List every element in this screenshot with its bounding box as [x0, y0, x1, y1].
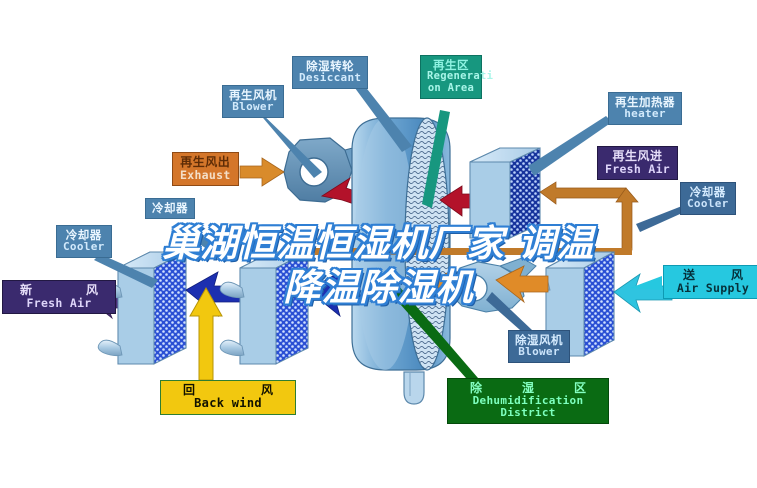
label-regen-heater-en: heater [615, 108, 675, 120]
label-back-wind[interactable]: 回 风 Back wind [160, 380, 296, 415]
label-dehum-blower[interactable]: 除湿风机 Blower [508, 330, 570, 363]
label-regeneration-area[interactable]: 再生区 Regenerati on Area [420, 55, 482, 99]
label-regen-blower[interactable]: 再生风机 Blower [222, 85, 284, 118]
label-cooler-right[interactable]: 冷却器 Cooler [680, 182, 736, 215]
label-cooler-left-en: Cooler [63, 241, 105, 253]
label-regen-fresh-air-en: Fresh Air [605, 163, 670, 175]
label-fresh-air-supply-cn: 新 风 [10, 284, 108, 297]
label-fresh-air-supply[interactable]: 新 风 Fresh Air [2, 280, 116, 314]
label-regeneration-area-en-2: on Area [427, 83, 475, 94]
label-back-wind-cn: 回 风 [169, 384, 287, 397]
label-dehumidification-district-cn: 除 湿 区 [456, 382, 600, 395]
label-air-supply-en: Air Supply [671, 282, 755, 294]
label-cooler-left[interactable]: 冷却器 Cooler [56, 225, 112, 258]
regen-heater-coil [470, 148, 540, 238]
exhaust-arrow [240, 158, 284, 186]
label-regen-heater[interactable]: 再生加热器 heater [608, 92, 682, 125]
label-desiccant-wheel[interactable]: 除湿转轮 Desiccant [292, 56, 368, 89]
label-air-supply[interactable]: 送 风 Air Supply [663, 265, 757, 299]
label-exhaust[interactable]: 再生风出 Exhaust [172, 152, 239, 186]
label-dehumidification-district-en-2: District [456, 407, 600, 419]
label-exhaust-cn: 再生风出 [180, 156, 231, 169]
schematic-illustration [0, 0, 757, 488]
label-back-wind-en: Back wind [169, 397, 287, 410]
label-dehumidification-district[interactable]: 除 湿 区 Dehumidification District [447, 378, 609, 424]
label-cooler-right-en: Cooler [687, 198, 729, 210]
label-regen-blower-en: Blower [229, 101, 277, 113]
label-cooler-mid[interactable]: 冷却器 [145, 198, 195, 219]
label-desiccant-wheel-en: Desiccant [299, 72, 361, 84]
label-cooler-mid-cn: 冷却器 [152, 202, 188, 214]
label-exhaust-en: Exhaust [180, 169, 231, 181]
cooler-coil-2 [220, 252, 308, 364]
label-dehum-blower-en: Blower [515, 346, 563, 358]
diagram-canvas: 再生风机 Blower 除湿转轮 Desiccant 再生区 Regenerat… [0, 0, 757, 488]
label-regen-fresh-air[interactable]: 再生风进 Fresh Air [597, 146, 678, 180]
drain-pan [404, 372, 424, 404]
label-regen-fresh-air-cn: 再生风进 [605, 150, 670, 163]
label-fresh-air-supply-en: Fresh Air [10, 297, 108, 309]
label-air-supply-cn: 送 风 [671, 269, 755, 282]
regen-fresh-air-in-arrow [540, 182, 626, 204]
